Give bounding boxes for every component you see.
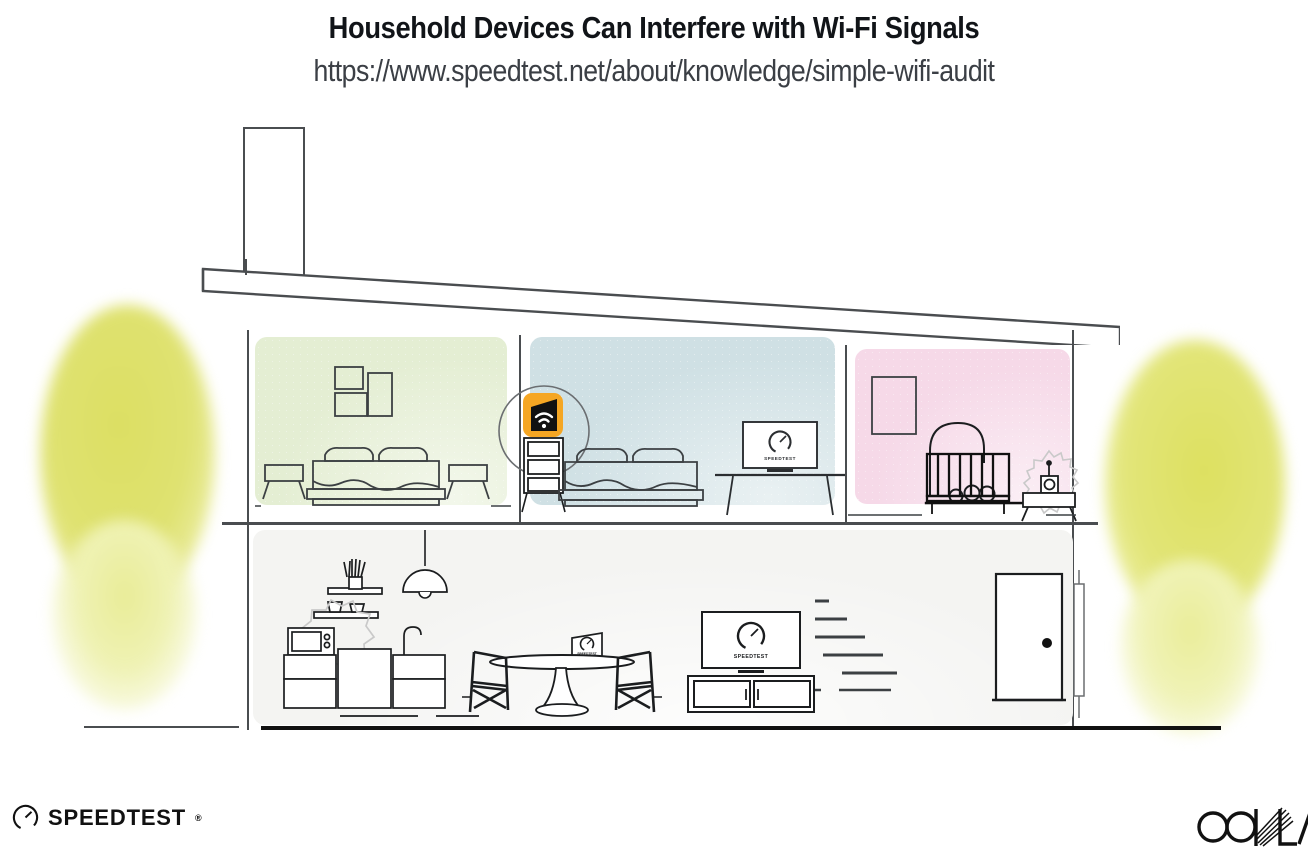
bed-blanket — [565, 480, 697, 490]
wifi-dot-icon — [542, 424, 546, 428]
desk-leg — [727, 476, 733, 515]
monitor-frame — [743, 422, 817, 468]
baby-monitor-body — [1041, 476, 1058, 493]
plant-leaves — [344, 559, 365, 577]
counter-cabinet — [284, 655, 336, 679]
ookla-k-stripes — [1256, 808, 1293, 846]
crib-frame — [927, 454, 1009, 496]
dining-set: SPEEDTEST — [462, 600, 662, 725]
bed-base — [307, 489, 445, 499]
counter-cabinet — [284, 679, 336, 708]
counter-cabinet — [393, 679, 445, 708]
bedroom-green-furniture — [255, 355, 515, 520]
wall-art-frame — [335, 393, 367, 416]
speedtest-logo: SPEEDTEST ® — [12, 804, 202, 831]
wall-left — [247, 330, 249, 730]
source-url: https://www.speedtest.net/about/knowledg… — [92, 46, 1217, 89]
ookla-o — [1199, 813, 1227, 841]
front-door[interactable] — [992, 570, 1102, 730]
tv-brand-label: SPEEDTEST — [734, 654, 769, 660]
nightstand — [265, 465, 303, 481]
ookla-o — [1227, 813, 1255, 841]
counter-cabinet — [393, 655, 445, 679]
footer: SPEEDTEST ® ® — [0, 790, 1308, 861]
door-knob — [1042, 638, 1052, 648]
wall-art-frame — [872, 377, 916, 434]
door-panel — [996, 574, 1062, 700]
tv-and-console: SPEEDTEST — [684, 608, 819, 718]
wall-divider-2 — [845, 345, 847, 525]
ookla-logo: ® — [1196, 806, 1308, 850]
speedtest-wordmark: SPEEDTEST — [48, 805, 186, 831]
tree-foliage-left-lower — [52, 520, 197, 710]
sink-faucet — [404, 627, 421, 655]
pillow — [325, 448, 373, 461]
lamp-shade — [403, 570, 447, 592]
illustration-canvas: Household Devices Can Interfere with Wi-… — [0, 0, 1308, 861]
shelf-leg — [522, 493, 527, 512]
wall-art-frame — [335, 367, 363, 389]
table-foot — [536, 704, 588, 716]
tree-foliage-right-lower — [1120, 560, 1260, 735]
table-pedestal — [542, 668, 580, 708]
speedtest-gauge-icon — [12, 804, 39, 831]
nightstand-legs — [263, 481, 305, 499]
speedtest-trademark: ® — [195, 813, 202, 823]
wall-art-frame — [368, 373, 392, 416]
staircase — [815, 538, 1005, 728]
ground-line-left — [84, 726, 239, 728]
bed-frame — [313, 499, 439, 505]
counter-cabinet — [338, 649, 391, 708]
side-panel — [1074, 584, 1084, 696]
tv-stand — [738, 670, 764, 673]
monitor-brand-label: SPEEDTEST — [764, 456, 796, 461]
bedroom-blue-furniture: SPEEDTEST — [555, 380, 845, 520]
nightstand — [449, 465, 487, 481]
console-door — [694, 681, 750, 707]
microwave-dial — [324, 642, 329, 647]
microwave-window — [292, 632, 321, 651]
roof — [198, 255, 1120, 345]
antenna-tip — [1047, 461, 1051, 465]
table-top — [490, 655, 634, 669]
nightstand-legs — [447, 481, 489, 499]
desk-leg — [827, 476, 833, 515]
plant-pot — [349, 577, 362, 589]
console-door — [754, 681, 810, 707]
pillow — [379, 448, 427, 461]
bed-frame — [565, 500, 697, 506]
bed-base — [559, 490, 703, 500]
page-title: Household Devices Can Interfere with Wi-… — [78, 0, 1229, 46]
microwave-dial — [324, 634, 329, 639]
pillow — [577, 449, 627, 462]
monitor-stand — [767, 469, 793, 472]
pendant-lamp — [398, 530, 452, 610]
header: Household Devices Can Interfere with Wi-… — [0, 0, 1308, 89]
lamp-bulb — [419, 592, 431, 598]
ookla-a — [1299, 813, 1308, 844]
nursery-baseboard — [848, 505, 1078, 527]
ground-line — [261, 726, 1221, 730]
crib-rail — [927, 496, 1009, 501]
pillow — [633, 449, 683, 462]
